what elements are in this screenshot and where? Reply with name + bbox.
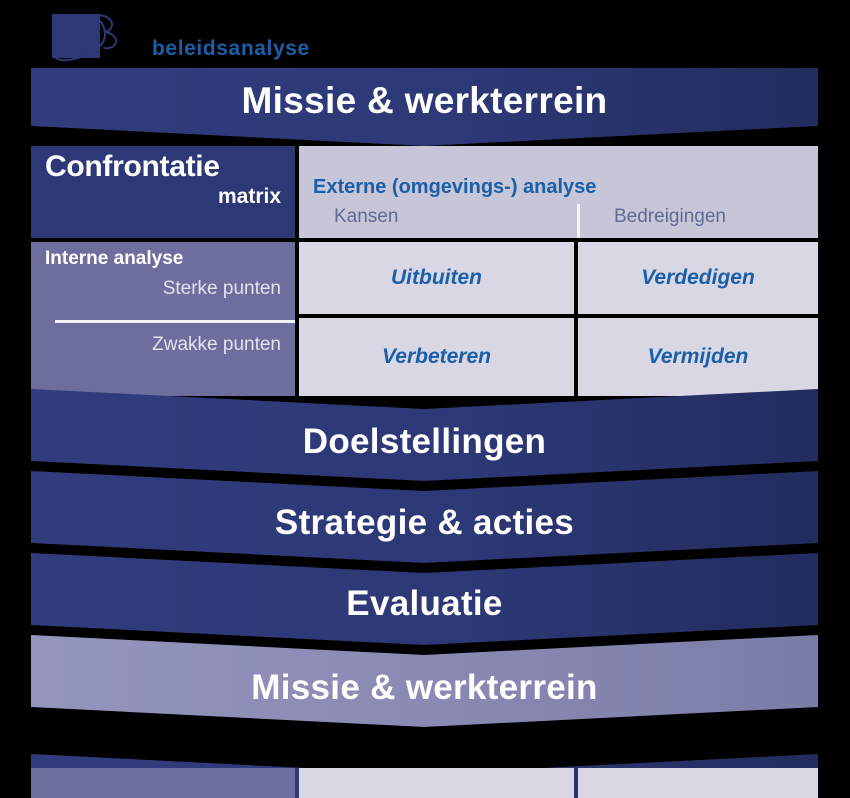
matrix-title-line2: matrix — [45, 185, 281, 208]
row-divider — [55, 320, 295, 323]
matrix-cell-label: Verbeteren — [382, 345, 491, 369]
internal-analysis-heading: Interne analyse — [45, 248, 183, 270]
external-analysis-header: Externe (omgevings-) analyse Kansen Bedr… — [299, 146, 818, 238]
matrix-cell-verbeteren: Verbeteren — [299, 318, 574, 396]
matrix-cell-vermijden: Vermijden — [578, 318, 818, 396]
matrix-cell-label: Vermijden — [648, 345, 749, 369]
external-column-kansen: Kansen — [334, 206, 398, 228]
internal-analysis-header: Interne analyse Sterke punten Zwakke pun… — [31, 242, 295, 396]
matrix-cell-uitbuiten: Uitbuiten — [299, 242, 574, 314]
band-label: Evaluatie — [346, 584, 502, 624]
matrix-cell-label: Uitbuiten — [391, 266, 482, 290]
band-label: Missie & werkterrein — [242, 80, 608, 122]
internal-row-zwakke-punten: Zwakke punten — [152, 334, 281, 356]
column-divider — [577, 204, 580, 238]
repeat-cell-right — [578, 768, 818, 798]
logo-text: beleidsanalyse — [152, 38, 310, 59]
repeat-cell-left — [299, 768, 574, 798]
confrontatie-matrix: Confrontatie matrix Externe (omgevings-)… — [31, 146, 818, 396]
repeat-internal-panel — [31, 768, 295, 798]
diagram-canvas: beleidsanalyse Missie & werkterrein Conf… — [0, 0, 850, 798]
matrix-cell-label: Verdedigen — [641, 266, 755, 290]
matrix-title-line1: Confrontatie — [45, 152, 281, 183]
band-label: Strategie & acties — [275, 503, 574, 543]
matrix-cell-verdedigen: Verdedigen — [578, 242, 818, 314]
external-analysis-heading: Externe (omgevings-) analyse — [313, 176, 596, 199]
external-column-bedreigingen: Bedreigingen — [614, 206, 726, 228]
band-missie-top: Missie & werkterrein — [31, 68, 818, 146]
matrix-title-block: Confrontatie matrix — [31, 146, 295, 238]
band-missie-bottom: Missie & werkterrein — [31, 635, 818, 740]
logo: beleidsanalyse — [48, 12, 468, 64]
band-label: Doelstellingen — [303, 422, 546, 462]
cycle-repeat-strip — [31, 752, 818, 798]
notebook-scribble-icon — [48, 12, 158, 64]
band-label: Missie & werkterrein — [251, 668, 597, 708]
internal-row-sterke-punten: Sterke punten — [163, 278, 281, 300]
